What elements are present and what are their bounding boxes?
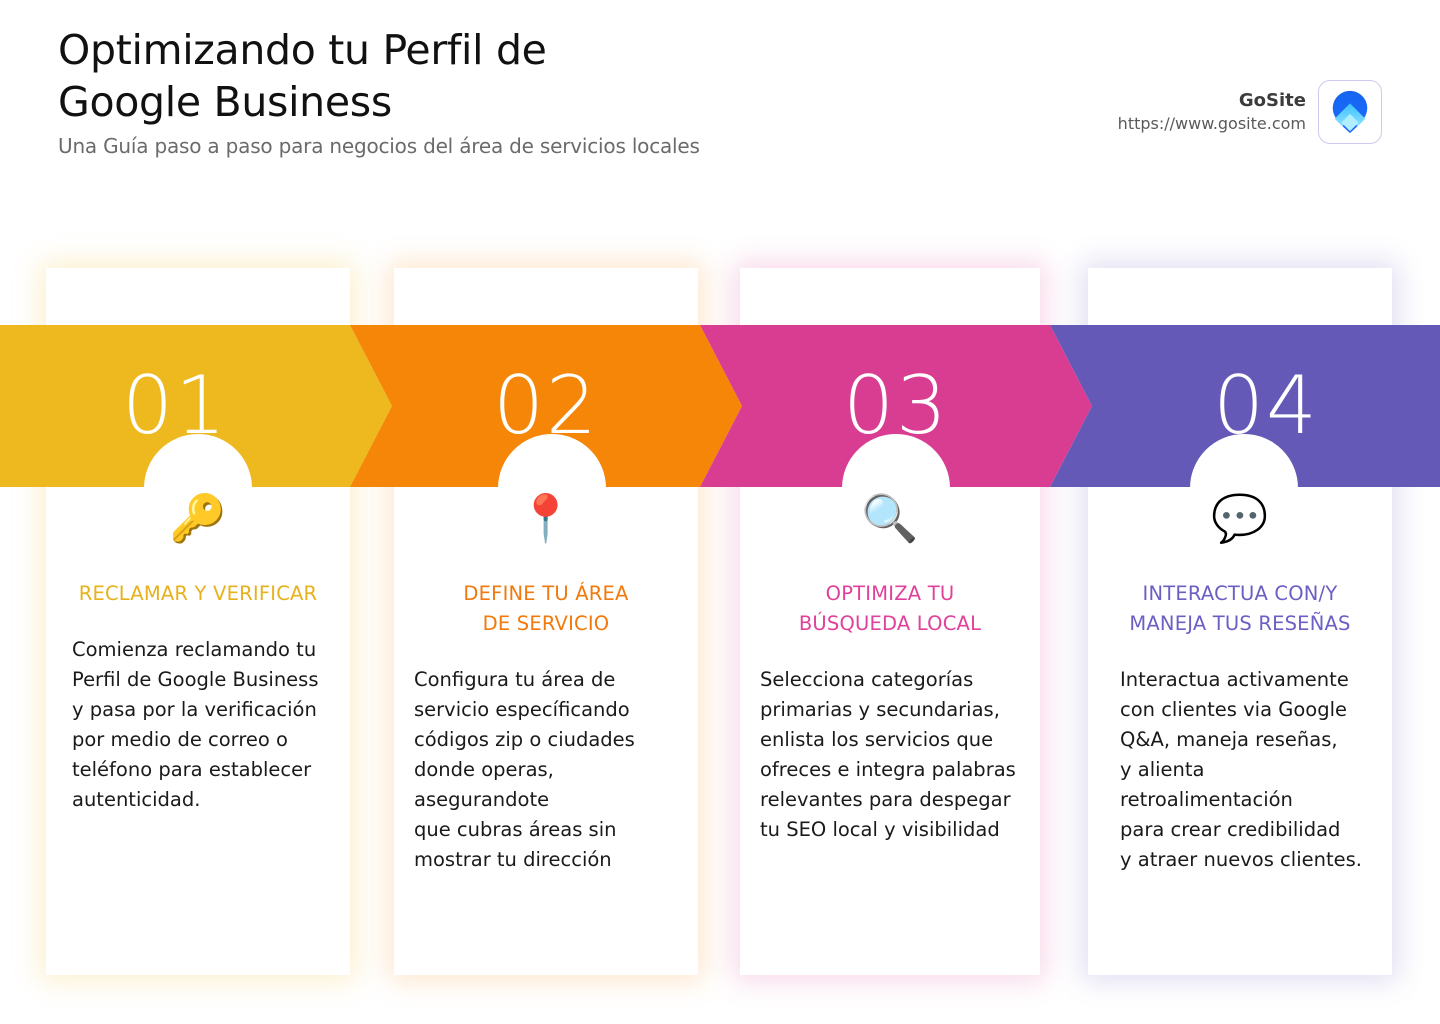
step-band-04: 04 — [1050, 325, 1440, 487]
speech-balloon-icon: 💬 — [1088, 487, 1392, 549]
step-card-body: 🔑 RECLAMAR Y VERIFICAR Comienza reclaman… — [46, 487, 350, 815]
step-description: Comienza reclamando tu Perfil de Google … — [46, 635, 350, 815]
magnifying-glass-icon: 🔍 — [740, 487, 1040, 549]
step-heading: OPTIMIZA TU BÚSQUEDA LOCAL — [740, 579, 1040, 639]
step-band-02: 02 — [350, 325, 742, 487]
steps-container: 🔑 RECLAMAR Y VERIFICAR Comienza reclaman… — [0, 0, 1440, 1024]
step-heading: INTERACTUA CON/Y MANEJA TUS RESEÑAS — [1088, 579, 1392, 639]
step-card-body: 💬 INTERACTUA CON/Y MANEJA TUS RESEÑAS In… — [1088, 487, 1392, 875]
step-heading: DEFINE TU ÁREA DE SERVICIO — [394, 579, 698, 639]
step-card-body: 📍 DEFINE TU ÁREA DE SERVICIO Configura t… — [394, 487, 698, 875]
step-description: Configura tu área de servicio específica… — [394, 665, 698, 875]
step-card-body: 🔍 OPTIMIZA TU BÚSQUEDA LOCAL Selecciona … — [740, 487, 1040, 845]
step-description: Interactua activamente con clientes via … — [1088, 665, 1392, 875]
step-band-03: 03 — [700, 325, 1092, 487]
step-description: Selecciona categorías primarias y secund… — [740, 665, 1040, 845]
step-heading: RECLAMAR Y VERIFICAR — [46, 579, 350, 609]
map-pin-icon: 📍 — [394, 487, 698, 549]
key-icon: 🔑 — [46, 487, 350, 549]
step-band-01: 01 — [0, 325, 392, 487]
step-number-banner: 01 02 03 04 — [0, 325, 1440, 487]
